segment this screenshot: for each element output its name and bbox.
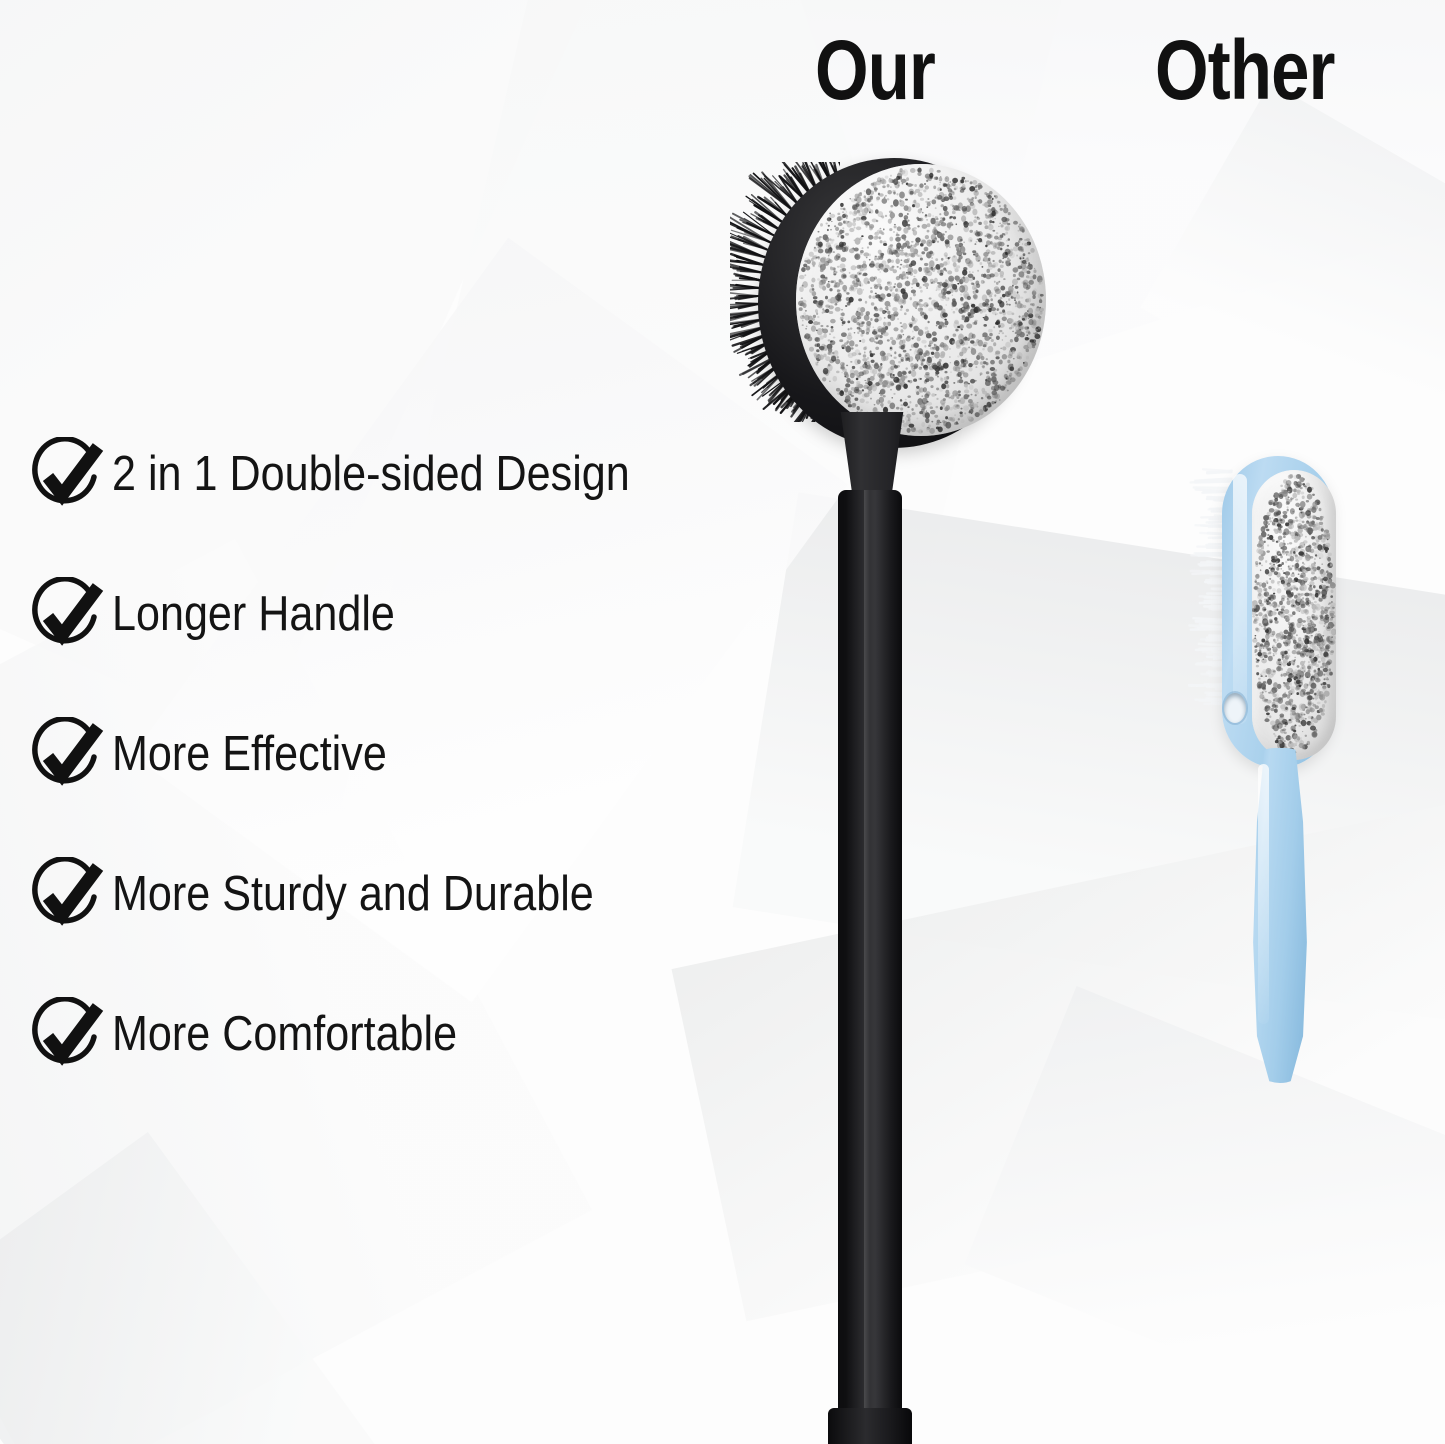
feature-item: Longer Handle	[28, 577, 828, 717]
our-column-heading: Our	[815, 22, 935, 119]
feature-label: More Effective	[112, 721, 387, 787]
other-column-heading: Other	[1155, 22, 1335, 119]
handle-end-paddle	[828, 1408, 912, 1444]
feature-label: 2 in 1 Double-sided Design	[112, 441, 630, 507]
feature-label: More Comfortable	[112, 1001, 457, 1067]
comparison-infographic: Our Other 2 in 1 Double-sided Design Lon…	[0, 0, 1445, 1444]
long-handle	[838, 490, 902, 1420]
our-product-image	[718, 140, 1048, 1440]
feature-item: 2 in 1 Double-sided Design	[28, 437, 828, 577]
check-circle-icon	[28, 857, 106, 937]
feature-list: 2 in 1 Double-sided Design Longer Handle…	[28, 437, 828, 1137]
check-circle-icon	[28, 997, 106, 1077]
feature-label: More Sturdy and Durable	[112, 861, 594, 927]
check-circle-icon	[28, 437, 106, 517]
pumice-stone-pad	[1252, 470, 1336, 760]
other-product-image	[1170, 448, 1400, 1088]
feature-label: Longer Handle	[112, 581, 395, 647]
check-circle-icon	[28, 717, 106, 797]
short-handle	[1232, 748, 1328, 1083]
feature-item: More Comfortable	[28, 997, 828, 1137]
pumice-stone-disc	[796, 164, 1046, 436]
handle-highlight	[1258, 764, 1269, 1024]
feature-item: More Effective	[28, 717, 828, 857]
check-circle-icon	[28, 577, 106, 657]
hang-hole	[1224, 693, 1246, 723]
feature-item: More Sturdy and Durable	[28, 857, 828, 997]
